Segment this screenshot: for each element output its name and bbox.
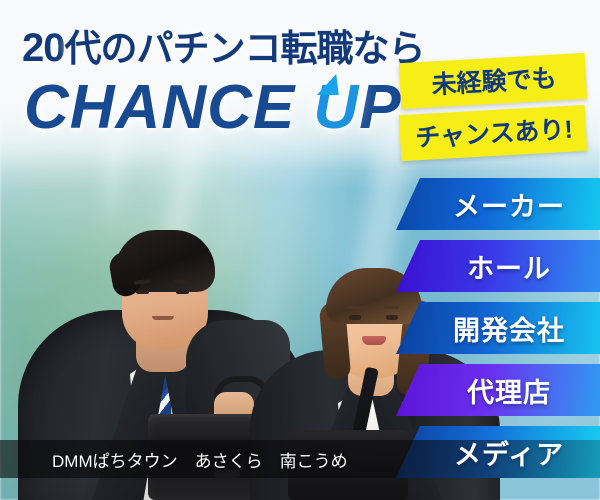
caption-text: DMMぱちタウン あさくら 南こうめ (52, 447, 348, 472)
category-label-3: 開発会社 (453, 309, 565, 348)
badge-line-1: 未経験でも (399, 53, 587, 109)
headline-rest: 代のパチンコ転職なら (65, 28, 425, 69)
logo-u-arrow: U (313, 72, 359, 143)
category-label-2: ホール (467, 247, 551, 286)
page-title: 20代のパチンコ転職なら (22, 18, 425, 72)
logo-p: P (359, 73, 401, 142)
category-button-maker[interactable]: メーカー (418, 178, 600, 230)
headline-prefix: 20 (22, 26, 65, 70)
category-label-1: メーカー (453, 185, 565, 224)
category-label-4: 代理店 (467, 371, 551, 410)
status-badge: 未経験でも チャンスあり! (400, 58, 586, 156)
badge-line-2: チャンスあり! (399, 105, 587, 161)
category-label-5: メディア (454, 433, 564, 472)
category-button-developer[interactable]: 開発会社 (418, 302, 600, 354)
banner: 20代のパチンコ転職なら CHANCE UP 未経験でも チャンスあり! メーカ… (0, 0, 600, 500)
brand-logo: CHANCE UP (24, 72, 402, 143)
category-button-hall[interactable]: ホール (418, 240, 600, 292)
category-button-agency[interactable]: 代理店 (418, 364, 600, 416)
logo-chance: CHANCE (24, 73, 295, 142)
